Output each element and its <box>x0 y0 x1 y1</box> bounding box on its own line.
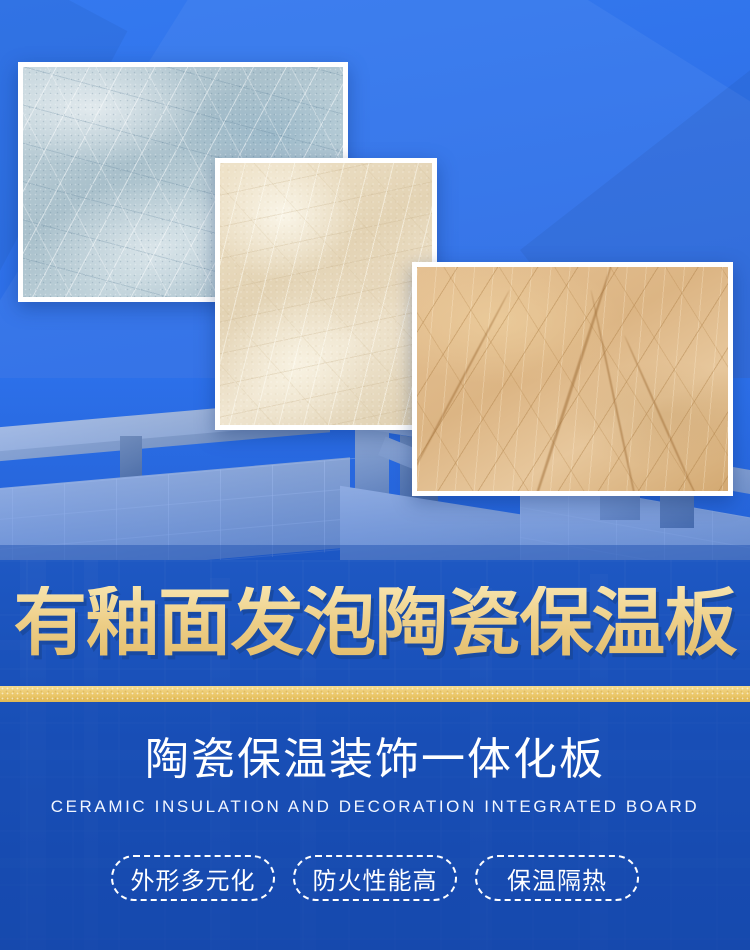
tile-speckle <box>220 163 432 425</box>
tile-texture <box>220 163 432 425</box>
product-banner: 有釉面发泡陶瓷保温板 陶瓷保温装饰一体化板 CERAMIC INSULATION… <box>0 0 750 950</box>
feature-pill-shape-variety[interactable]: 外形多元化 <box>111 855 275 901</box>
sample-tile-cream-travertine[interactable] <box>215 158 437 430</box>
gold-divider-bar <box>0 686 750 702</box>
subtitle-english: CERAMIC INSULATION AND DECORATION INTEGR… <box>0 797 750 817</box>
feature-pill-thermal-insulation[interactable]: 保温隔热 <box>475 855 639 901</box>
feature-pill-list: 外形多元化 防火性能高 保温隔热 <box>0 855 750 901</box>
subtitle-chinese: 陶瓷保温装饰一体化板 <box>0 738 750 782</box>
feature-pill-fire-resistance[interactable]: 防火性能高 <box>293 855 457 901</box>
tile-texture <box>417 267 728 491</box>
headline-title: 有釉面发泡陶瓷保温板 <box>4 586 747 660</box>
sample-tile-tan-golden-marble[interactable] <box>412 262 733 496</box>
